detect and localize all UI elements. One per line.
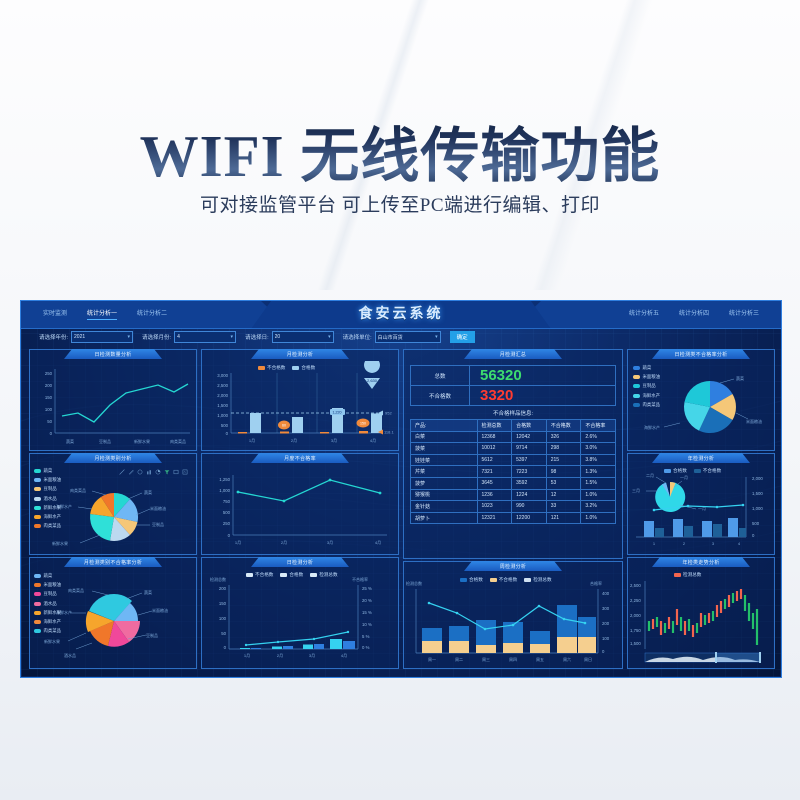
panel-weekly-detect-analysis: 周检测分析 合格数 不合格数 检测总数 检测总数 合格率 400 300 200… xyxy=(403,561,623,669)
callout-label: 二月 xyxy=(646,473,654,478)
ytick: 1,750 xyxy=(630,628,641,633)
cell-pass: 1224 xyxy=(512,489,547,501)
panel-title-bar: 月度不合格率 xyxy=(251,453,349,463)
chart-candlestick: 2,500 2,250 2,000 1,750 1,500 xyxy=(628,569,774,667)
cell-pass: 3592 xyxy=(512,477,547,489)
ytick: 1,500 xyxy=(752,491,763,496)
filter-month-select[interactable]: 4 ▾ xyxy=(174,331,236,343)
bar-value-bubbles: 60 1,220 150 xyxy=(278,409,370,430)
legend-item-pass[interactable]: 合格数 xyxy=(664,468,687,474)
legend-item-total[interactable]: 检测总数 xyxy=(674,572,701,578)
page-title: WIFI 无线传输功能 xyxy=(0,108,800,193)
filter-year-select[interactable]: 2021 ▾ xyxy=(71,331,133,343)
callout-label: 米面粮油 xyxy=(150,505,166,511)
ytick: 25 % xyxy=(362,586,372,591)
pie-slices xyxy=(684,381,736,433)
cell-fail: 12 xyxy=(546,489,581,501)
col-total: 检测总数 xyxy=(477,420,512,432)
cell-rate: 2.6% xyxy=(581,431,616,443)
x-axis-ticks: 1月 2月 3月 4月 xyxy=(235,540,381,545)
legend-monthly-class-pie: 蔬菜 米面粮油 豆制品 酒水品 新鲜水果 海鲜水产 肉类菜品 xyxy=(34,468,61,529)
callout-label: 一月 xyxy=(680,475,688,480)
cell-rate: 1.3% xyxy=(581,466,616,478)
legend-label: 检测总数 xyxy=(683,572,701,578)
axis-label-left: 检测总数 xyxy=(210,576,226,582)
legend-swatch xyxy=(292,366,299,370)
legend-swatch xyxy=(34,469,41,473)
callout-label: 蔬菜 xyxy=(144,589,152,595)
ytick: 200 xyxy=(602,621,610,626)
callout-label: 豆制品 xyxy=(152,521,164,527)
y-axis-ticks: 1,250 1,000 750 500 250 0 xyxy=(219,477,230,538)
xtick: 4 xyxy=(738,541,741,546)
col-fail: 不合格数 xyxy=(546,420,581,432)
callout-label: 酒水品 xyxy=(64,652,76,658)
cell-rate: 1.0% xyxy=(581,512,616,524)
panel-title-bar: 年检类走势分析 xyxy=(652,557,750,567)
nav-item-realtime[interactable]: 实时监测 xyxy=(43,308,67,320)
nav-right: 统计分析五 统计分析四 统计分析三 xyxy=(629,308,759,320)
legend-item[interactable]: 酒水品 xyxy=(34,496,61,502)
legend-rose: 蔬菜 米面粮油 豆制品 酒水品 新鲜水果 海鲜水产 肉类菜品 xyxy=(34,573,61,634)
ytick: 2,250 xyxy=(630,598,641,603)
ytick: 750 xyxy=(223,499,231,504)
panel-title-bar: 周检测分析 xyxy=(464,561,562,571)
brush-icon[interactable] xyxy=(128,469,134,475)
legend-item[interactable]: 蔬菜 xyxy=(34,468,61,474)
ytick: 250 xyxy=(223,521,231,526)
legend-daily-bars: 不合格数 合格数 检测总数 xyxy=(246,572,338,578)
filter-unit: 请选择单位: 白山市百货 ▾ xyxy=(343,331,441,343)
legend-swatch xyxy=(280,573,287,577)
y-axis-ticks: 3,000 2,500 2,000 1,500 1,000 500 0 xyxy=(217,373,228,436)
legend-label: 酒水品 xyxy=(44,496,57,502)
filter-month-value: 4 xyxy=(177,334,180,340)
legend-label: 新鲜水果 xyxy=(44,610,62,616)
filter-day-select[interactable]: 20 ▾ xyxy=(272,331,334,343)
legend-item[interactable]: 海鲜水产 xyxy=(633,393,660,399)
callout-label: 米面粮油 xyxy=(746,418,762,424)
legend-item[interactable]: 酒水品 xyxy=(34,601,61,607)
filter-unit-select[interactable]: 白山市百货 ▾ xyxy=(375,331,441,343)
ytick: 300 xyxy=(602,606,610,611)
legend-item-fail[interactable]: 不合格数 xyxy=(490,577,517,583)
dashboard-topbar: 食安云系统 实时监测 统计分析一 统计分析二 统计分析五 统计分析四 统计分析三 xyxy=(21,301,781,327)
xtick: 1月 xyxy=(244,653,250,658)
xtick: 2月 xyxy=(281,540,287,545)
callout-label: 蔬菜 xyxy=(144,489,152,495)
panel-body: 蔬菜 米面粮油 豆制品 酒水品 新鲜水果 海鲜水产 肉类菜品 xyxy=(30,569,196,668)
panel-monthly-class-pie: 月检测类别分析 蔬菜 米面粮油 豆制品 酒水品 新鲜水果 海鲜水产 肉类菜品 xyxy=(29,453,197,555)
zoom-handle-left[interactable] xyxy=(715,652,717,663)
ytick: 200 xyxy=(45,383,53,388)
cell-total: 10012 xyxy=(477,443,512,455)
legend-label: 豆制品 xyxy=(643,383,656,389)
cell-pass: 12042 xyxy=(512,431,547,443)
legend-yearly: 合格数 不合格数 xyxy=(664,468,721,474)
dashboard-screenshot: 食安云系统 实时监测 统计分析一 统计分析二 统计分析五 统计分析四 统计分析三… xyxy=(20,300,782,678)
table-header-row: 产品: 检测总数 合格数 不合格数 不合格率 xyxy=(411,420,616,432)
chart-monthly-detect-bar: 3,000 2,500 2,000 1,500 1,000 500 0 xyxy=(202,361,398,449)
y-axis-left-ticks: 200 150 100 50 0 xyxy=(219,586,227,650)
filter-icon[interactable] xyxy=(164,469,170,475)
xtick: 4月 xyxy=(370,438,376,443)
ytick: 2,000 xyxy=(630,613,641,618)
xtick: 2 xyxy=(683,541,686,546)
panel-title: 日检测类不合格率分析 xyxy=(674,351,727,358)
cell-total: 1023 xyxy=(477,501,512,513)
legend-swatch xyxy=(34,583,41,587)
cell-fail: 326 xyxy=(546,431,581,443)
legend-swatch xyxy=(34,629,41,633)
ytick: 0 xyxy=(226,431,229,436)
legend-item-fail[interactable]: 不合格数 xyxy=(246,572,273,578)
data-view-icon[interactable] xyxy=(173,469,179,475)
table-row: 芹菜 7321 7223 98 1.3% xyxy=(411,466,616,478)
ytick: 400 xyxy=(602,591,610,596)
cell-rate: 3.0% xyxy=(581,443,616,455)
legend-swatch xyxy=(664,469,671,473)
panel-title: 月度不合格率 xyxy=(284,455,316,462)
bar-chart-icon[interactable] xyxy=(146,469,152,475)
callout-label: 米面粮油 xyxy=(152,607,168,613)
ytick: 200 xyxy=(219,586,227,591)
submit-button[interactable]: 确定 xyxy=(450,331,475,343)
legend-label: 不合格数 xyxy=(703,468,721,474)
filter-unit-label: 请选择单位: xyxy=(343,333,372,341)
panel-title-bar: 日检测分析 xyxy=(251,557,349,567)
summary-fail-label: 不合格数 xyxy=(411,386,470,405)
legend-item[interactable]: 蔬菜 xyxy=(34,573,61,579)
refresh-icon[interactable] xyxy=(137,469,143,475)
pin-marker: 2,630 xyxy=(364,361,380,389)
ytick: 10 % xyxy=(362,622,372,627)
nav-item-stats-2[interactable]: 统计分析二 xyxy=(137,308,167,320)
panel-title-bar: 月检测类别不合格率分析 xyxy=(64,557,162,567)
ytick: 20 % xyxy=(362,598,372,603)
y-axis-right-ticks: 400 300 200 100 0 xyxy=(602,591,610,654)
legend-swatch xyxy=(633,366,640,370)
legend-swatch xyxy=(34,611,41,615)
xtick: 1月 xyxy=(235,540,241,545)
y-axis-ticks: 250 200 150 100 50 0 xyxy=(45,371,53,436)
legend-swatch xyxy=(34,478,41,482)
pie-slices xyxy=(90,493,138,541)
filter-year: 请选择年份: 2021 ▾ xyxy=(39,331,133,343)
legend-item[interactable]: 新鲜水果 xyxy=(34,610,61,616)
legend-item-total[interactable]: 检测总数 xyxy=(524,577,551,583)
table-row: 白菜 12368 12042 326 2.6% xyxy=(411,431,616,443)
panel-yearly-trend-candles: 年检类走势分析 检测总数 2,500 2,250 2,000 1,750 1,5… xyxy=(627,557,775,669)
table-row: 猕猴桃 1236 1224 12 1.0% xyxy=(411,489,616,501)
xtick: 周二 xyxy=(455,656,463,662)
legend-swatch xyxy=(34,602,41,606)
legend-swatch xyxy=(524,578,531,582)
panel-daily-fail-pie: 日检测类不合格率分析 蔬菜 米面粮油 豆制品 海鲜水产 肉类菜品 xyxy=(627,349,775,451)
legend-label: 海鲜水产 xyxy=(44,619,62,625)
legend-swatch xyxy=(310,573,317,577)
legend-item[interactable]: 新鲜水果 xyxy=(34,505,61,511)
legend-swatch xyxy=(674,573,681,577)
chevron-down-icon: ▾ xyxy=(128,335,131,340)
x-axis-ticks: 周一 周二 周三 周四 周五 周六 周日 xyxy=(428,656,592,662)
panel-yearly-detect-analysis: 年检测分析 合格数 不合格数 二月 三月 一月 xyxy=(627,453,775,555)
legend-label: 肉类菜品 xyxy=(44,523,62,529)
x-axis-ticks: 1月 2月 3月 4月 xyxy=(249,438,376,443)
rose-slices xyxy=(86,594,140,647)
xtick: 周一 xyxy=(428,656,436,662)
filter-year-value: 2021 xyxy=(74,334,85,340)
legend-swatch xyxy=(34,620,41,624)
legend-item-pass[interactable]: 合格数 xyxy=(460,577,483,583)
ytick: 50 xyxy=(221,631,226,636)
legend-label: 合格数 xyxy=(301,365,315,371)
nav-left: 实时监测 统计分析一 统计分析二 xyxy=(43,308,167,320)
ytick: 5 % xyxy=(362,634,370,639)
ytick: 0 xyxy=(602,649,605,654)
panel-body: 不合格数 合格数 检测总数 检测总数 不合格率 200 150 100 50 0… xyxy=(202,569,398,668)
ytick: 500 xyxy=(752,521,760,526)
legend-label: 新鲜水果 xyxy=(44,505,62,511)
callout-label: 三月 xyxy=(632,488,640,493)
cell-total: 3645 xyxy=(477,477,512,489)
ytick: 100 xyxy=(219,616,227,621)
panel-body: 总数 56320 不合格数 3320 不合格样品信息: 产品: 检测总数 合格数… xyxy=(404,361,622,558)
callout-label: 肉类菜品 xyxy=(68,587,84,593)
legend-label: 米面粮油 xyxy=(44,477,62,483)
cell-rate: 1.0% xyxy=(581,489,616,501)
ytick: 1,000 xyxy=(752,506,763,511)
callout-label: 蔬菜 xyxy=(736,375,744,381)
chevron-down-icon: ▾ xyxy=(231,335,234,340)
filter-unit-value: 白山市百货 xyxy=(378,334,403,341)
callout-label: 豆制品 xyxy=(146,632,158,638)
table-row: 金针菇 1023 990 33 3.2% xyxy=(411,501,616,513)
legend-item-fail[interactable]: 不合格数 xyxy=(258,365,285,371)
xtick: 1 xyxy=(653,541,656,546)
y-axis-ticks: 2,000 1,500 1,000 500 0 xyxy=(752,476,763,538)
chevron-down-icon: ▾ xyxy=(435,335,438,340)
legend-label: 米面粮油 xyxy=(44,582,62,588)
summary-fail-value: 3320 xyxy=(470,386,615,405)
cell-pass: 12200 xyxy=(512,512,547,524)
legend-item[interactable]: 米面粮油 xyxy=(633,374,660,380)
xtick: 周三 xyxy=(482,656,490,662)
legend-monthly: 不合格数 合格数 xyxy=(258,365,315,371)
cell-pass: 990 xyxy=(512,501,547,513)
ytick: 1,000 xyxy=(219,488,230,493)
ytick: 50 xyxy=(47,419,52,424)
filter-month: 请选择月份: 4 ▾ xyxy=(142,331,236,343)
ytick: 150 xyxy=(45,395,53,400)
chart-yearly-combo: 二月 三月 一月 一月 2,000 1,500 1,000 500 0 xyxy=(628,465,774,553)
legend-swatch xyxy=(34,506,41,510)
panel-title-bar: 日检测数量分析 xyxy=(64,349,162,359)
xtick: 3 xyxy=(712,541,715,546)
xtick: 3月 xyxy=(331,438,337,443)
cell-pass: 9714 xyxy=(512,443,547,455)
legend-item-pass[interactable]: 合格数 xyxy=(292,365,315,371)
filter-month-label: 请选择月份: xyxy=(142,333,171,341)
legend-item[interactable]: 豆制品 xyxy=(34,486,61,492)
xtick: 豆制品 xyxy=(99,438,111,444)
ytick: 500 xyxy=(223,510,231,515)
cell-product: 胡萝卜 xyxy=(411,512,478,524)
legend-weekly: 合格数 不合格数 检测总数 xyxy=(460,577,552,583)
legend-item[interactable]: 海鲜水产 xyxy=(34,514,61,520)
legend-item[interactable]: 肉类菜品 xyxy=(633,402,660,408)
panel-title: 日检测数量分析 xyxy=(94,351,131,358)
ytick: 1,250 xyxy=(219,477,230,482)
cell-product: 金针菇 xyxy=(411,501,478,513)
legend-item-pass[interactable]: 合格数 xyxy=(280,572,303,578)
axis-label-left: 检测总数 xyxy=(406,580,422,586)
callout-label: 肉类菜品 xyxy=(70,487,86,493)
legend-label: 不合格数 xyxy=(255,572,273,578)
cell-product: 菠菜 xyxy=(411,443,478,455)
legend-label: 蔬菜 xyxy=(44,573,53,579)
cell-fail: 298 xyxy=(546,443,581,455)
nav-item-stats-5[interactable]: 统计分析五 xyxy=(629,308,659,320)
panel-body: 蔬菜 米面粮油 豆制品 海鲜水产 肉类菜品 蔬菜 米面粮油 xyxy=(628,361,774,450)
pie-chart-icon[interactable] xyxy=(155,469,161,475)
legend-label: 合格数 xyxy=(673,468,687,474)
xtick: 4月 xyxy=(341,653,347,658)
zoom-handle-right[interactable] xyxy=(759,652,761,663)
panel-body: 蔬菜 米面粮油 豆制品 酒水品 新鲜水果 海鲜水产 肉类菜品 xyxy=(30,465,196,554)
ytick: 3,000 xyxy=(217,373,228,378)
xtick: 2月 xyxy=(277,653,283,658)
legend-daily-fail-pie: 蔬菜 米面粮油 豆制品 海鲜水产 肉类菜品 xyxy=(633,365,660,408)
chart-monthly-fail-rate-line: 1,250 1,000 750 500 250 0 1月 2月 3月 xyxy=(202,465,398,553)
ytick: 500 xyxy=(221,423,229,428)
panel-title-bar: 月检测类别分析 xyxy=(64,453,162,463)
xtick: 肉类菜品 xyxy=(170,438,186,444)
panel-title: 年检类走势分析 xyxy=(682,559,719,566)
cell-fail: 53 xyxy=(546,477,581,489)
ytick: 0 xyxy=(228,533,231,538)
col-pass: 合格数 xyxy=(512,420,547,432)
axis-label-right: 不合格率 xyxy=(352,576,368,582)
page-subtitle: 可对接监管平台 可上传至PC端进行编辑、打印 xyxy=(0,190,800,217)
legend-item[interactable]: 豆制品 xyxy=(633,383,660,389)
callout-label: 海鲜水产 xyxy=(644,424,660,430)
nav-item-stats-1[interactable]: 统计分析一 xyxy=(87,308,117,320)
legend-label: 酒水品 xyxy=(44,601,57,607)
ytick: 2,000 xyxy=(752,476,763,481)
line-tool-icon[interactable] xyxy=(119,469,125,475)
fail-sample-table: 产品: 检测总数 合格数 不合格数 不合格率 白菜 12368 12042 32… xyxy=(410,419,616,524)
panel-daily-detect-analysis: 日检测数量分析 250 200 150 100 50 0 蔬菜 豆制品 新鲜水果 xyxy=(29,349,197,451)
legend-swatch xyxy=(694,469,701,473)
legend-item-fail[interactable]: 不合格数 xyxy=(694,468,721,474)
xtick: 蔬菜 xyxy=(66,438,74,444)
legend-swatch xyxy=(460,578,467,582)
panel-title-bar: 年检测分析 xyxy=(652,453,750,463)
xtick: 4月 xyxy=(375,540,381,545)
panel-title: 年检测分析 xyxy=(688,455,715,462)
cell-fail: 33 xyxy=(546,501,581,513)
panel-title: 月检测类别不合格率分析 xyxy=(84,559,142,566)
legend-label: 肉类菜品 xyxy=(643,402,661,408)
legend-swatch xyxy=(633,403,640,407)
nav-item-stats-4[interactable]: 统计分析四 xyxy=(679,308,709,320)
chart-toolbox xyxy=(119,469,188,475)
cell-fail: 121 xyxy=(546,512,581,524)
legend-item-total[interactable]: 检测总数 xyxy=(310,572,337,578)
cell-fail: 215 xyxy=(546,454,581,466)
xtick: 2月 xyxy=(291,438,297,443)
xtick: 周五 xyxy=(536,656,544,662)
legend-item[interactable]: 肉类菜品 xyxy=(34,523,61,529)
x-axis-ticks: 1 2 3 4 xyxy=(653,541,741,546)
col-product: 产品: xyxy=(411,420,478,432)
page-title-latin: WIFI xyxy=(140,123,285,189)
cell-rate: 3.8% xyxy=(581,454,616,466)
bubble-value: 150 xyxy=(360,422,366,426)
ytick: 250 xyxy=(45,371,53,376)
candles xyxy=(649,589,757,645)
table-row: 娃娃菜 5612 5397 215 3.8% xyxy=(411,454,616,466)
summary-row-fail: 不合格数 3320 xyxy=(410,386,616,406)
panel-title: 月检测类别分析 xyxy=(94,455,131,462)
xtick: 周日 xyxy=(584,656,592,662)
panel-monthly-fail-rose: 月检测类别不合格率分析 蔬菜 米面粮油 豆制品 酒水品 新鲜水果 海鲜水产 肉类… xyxy=(29,557,197,669)
legend-label: 蔬菜 xyxy=(44,468,53,474)
legend-label: 不合格数 xyxy=(267,365,285,371)
summary-total-value: 56320 xyxy=(470,366,615,385)
panel-title: 周检测分析 xyxy=(500,563,527,570)
cell-product: 娃娃菜 xyxy=(411,454,478,466)
legend-label: 不合格数 xyxy=(499,577,517,583)
cell-rate: 1.5% xyxy=(581,477,616,489)
legend-item[interactable]: 海鲜水产 xyxy=(34,619,61,625)
y-axis-right-ticks: 25 % 20 % 15 % 10 % 5 % 0 % xyxy=(362,586,372,650)
x-axis-ticks: 蔬菜 豆制品 新鲜水果 肉类菜品 xyxy=(66,438,186,444)
legend-swatch xyxy=(246,573,253,577)
cell-product: 白菜 xyxy=(411,431,478,443)
legend-candles: 检测总数 xyxy=(674,572,701,578)
legend-item[interactable]: 米面粮油 xyxy=(34,477,61,483)
nav-item-stats-3[interactable]: 统计分析三 xyxy=(729,308,759,320)
pin-value: 2,630 xyxy=(367,378,378,383)
xtick: 3月 xyxy=(327,540,333,545)
xtick: 周四 xyxy=(509,656,517,662)
legend-label: 合格数 xyxy=(469,577,483,583)
legend-item[interactable]: 豆制品 xyxy=(34,591,61,597)
legend-swatch xyxy=(633,375,640,379)
cell-rate: 3.2% xyxy=(581,501,616,513)
legend-label: 米面粮油 xyxy=(643,374,661,380)
legend-item[interactable]: 肉类菜品 xyxy=(34,628,61,634)
legend-item[interactable]: 米面粮油 xyxy=(34,582,61,588)
panel-title-bar: 月检测汇总 xyxy=(464,349,562,359)
x-axis-ticks: 1月 2月 3月 4月 xyxy=(244,653,347,658)
axis-label-right: 合格率 xyxy=(590,580,602,586)
panel-title: 日检测分析 xyxy=(287,559,314,566)
cell-product: 菠萝 xyxy=(411,477,478,489)
ytick: 0 xyxy=(752,533,755,538)
callout-label: 新鲜水果 xyxy=(52,540,68,546)
legend-label: 豆制品 xyxy=(44,486,57,492)
legend-label: 肉类菜品 xyxy=(44,628,62,634)
bubble-value: 1,220 xyxy=(333,411,342,415)
ytick: 1,500 xyxy=(630,641,641,646)
legend-item[interactable]: 蔬菜 xyxy=(633,365,660,371)
save-image-icon[interactable] xyxy=(182,469,188,475)
ytick: 150 xyxy=(219,601,227,606)
ytick: 2,500 xyxy=(630,583,641,588)
